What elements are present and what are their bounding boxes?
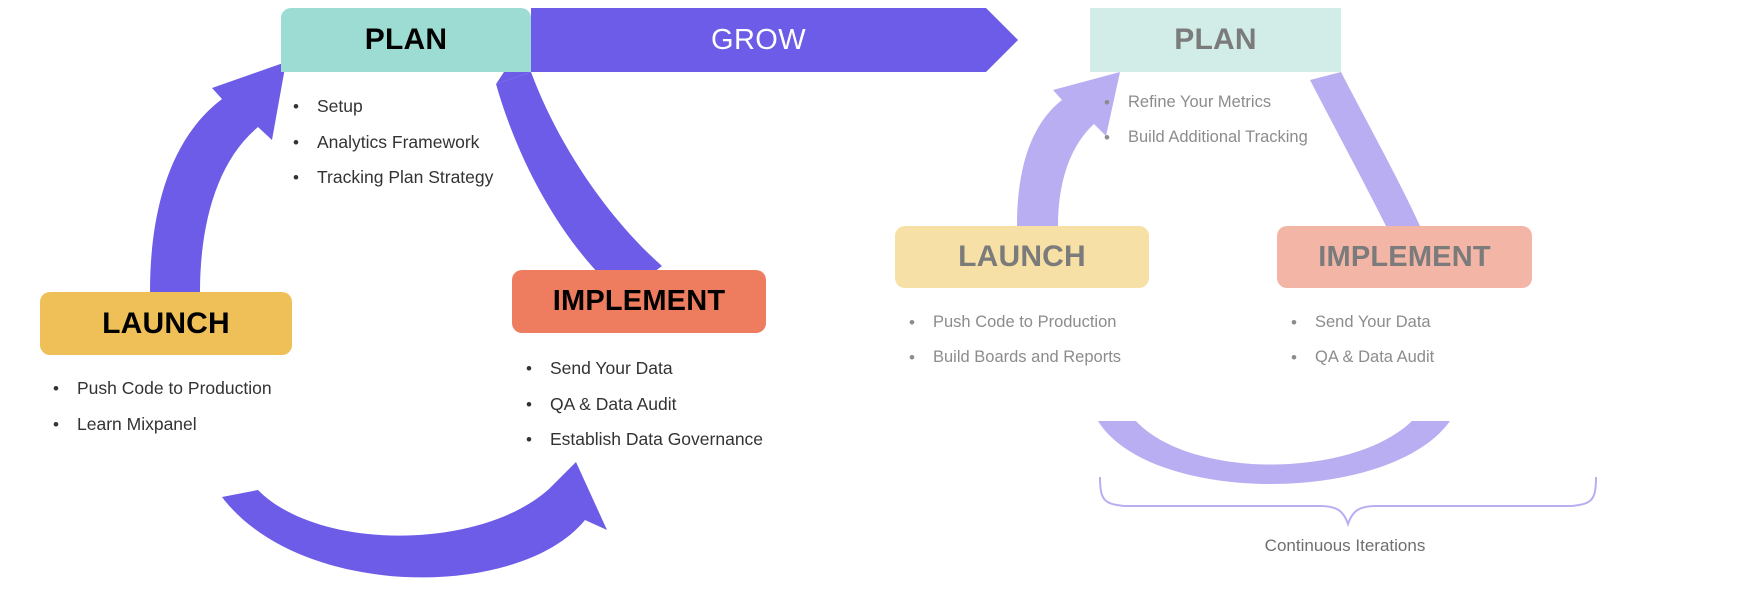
bullet-text: Build Additional Tracking <box>1128 129 1308 146</box>
list-item: • QA & Data Audit <box>526 396 766 414</box>
list-item: • Learn Mixpanel <box>53 416 292 434</box>
grow-banner: GROW <box>531 8 1018 72</box>
bullet-text: Setup <box>317 98 363 116</box>
bullet-dot-icon: • <box>1104 129 1128 146</box>
arrow-launch-to-plan-active <box>150 62 286 292</box>
node-plan-faded[interactable]: PLAN • Refine Your Metrics • Build Addit… <box>1090 8 1341 164</box>
list-item: • Build Boards and Reports <box>909 349 1149 366</box>
diagram-canvas: GROW PLAN • Setup • Analytics Framework … <box>0 0 1740 589</box>
node-launch-faded-bullets: • Push Code to Production • Build Boards… <box>895 314 1149 366</box>
bullet-dot-icon: • <box>293 169 317 186</box>
bullet-dot-icon: • <box>1104 94 1128 111</box>
list-item: • QA & Data Audit <box>1291 349 1532 366</box>
bullet-text: Send Your Data <box>1315 314 1431 331</box>
list-item: • Send Your Data <box>526 360 766 378</box>
bullet-text: QA & Data Audit <box>1315 349 1434 366</box>
grow-banner-label: GROW <box>531 8 986 72</box>
bullet-text: Establish Data Governance <box>550 431 763 449</box>
continuous-iterations-label: Continuous Iterations <box>1195 536 1495 556</box>
arrow-implement-to-launch-active <box>222 462 607 577</box>
node-implement-active[interactable]: IMPLEMENT • Send Your Data • QA & Data A… <box>512 270 766 467</box>
bullet-text: Push Code to Production <box>77 380 272 398</box>
bullet-dot-icon: • <box>909 314 933 331</box>
bullet-dot-icon: • <box>53 416 77 433</box>
bullet-dot-icon: • <box>909 349 933 366</box>
node-launch-active[interactable]: LAUNCH • Push Code to Production • Learn… <box>40 292 292 451</box>
bullet-text: Tracking Plan Strategy <box>317 169 493 187</box>
node-implement-active-bullets: • Send Your Data • QA & Data Audit • Est… <box>512 360 766 449</box>
bullet-text: Push Code to Production <box>933 314 1116 331</box>
bullet-dot-icon: • <box>293 98 317 115</box>
list-item: • Establish Data Governance <box>526 431 766 449</box>
node-plan-active[interactable]: PLAN • Setup • Analytics Framework • Tra… <box>281 8 531 205</box>
list-item: • Build Additional Tracking <box>1104 129 1341 146</box>
node-plan-faded-bullets: • Refine Your Metrics • Build Additional… <box>1090 94 1341 146</box>
node-plan-active-bullets: • Setup • Analytics Framework • Tracking… <box>281 98 531 187</box>
node-implement-faded-title: IMPLEMENT <box>1277 226 1532 288</box>
node-plan-faded-title: PLAN <box>1090 8 1341 72</box>
list-item: • Push Code to Production <box>53 380 292 398</box>
bullet-dot-icon: • <box>1291 314 1315 331</box>
list-item: • Refine Your Metrics <box>1104 94 1341 111</box>
bullet-text: QA & Data Audit <box>550 396 676 414</box>
list-item: • Tracking Plan Strategy <box>293 169 531 187</box>
bullet-text: Analytics Framework <box>317 134 479 152</box>
list-item: • Push Code to Production <box>909 314 1149 331</box>
list-item: • Setup <box>293 98 531 116</box>
node-implement-faded[interactable]: IMPLEMENT • Send Your Data • QA & Data A… <box>1277 226 1532 384</box>
bullet-text: Build Boards and Reports <box>933 349 1121 366</box>
node-launch-faded[interactable]: LAUNCH • Push Code to Production • Build… <box>895 226 1149 384</box>
list-item: • Analytics Framework <box>293 134 531 152</box>
bullet-dot-icon: • <box>293 134 317 151</box>
node-launch-active-bullets: • Push Code to Production • Learn Mixpan… <box>40 380 292 433</box>
bullet-dot-icon: • <box>53 380 77 397</box>
bullet-dot-icon: • <box>526 360 550 377</box>
node-launch-active-title: LAUNCH <box>40 292 292 355</box>
bullet-dot-icon: • <box>1291 349 1315 366</box>
node-launch-faded-title: LAUNCH <box>895 226 1149 288</box>
bullet-text: Refine Your Metrics <box>1128 94 1271 111</box>
bullet-dot-icon: • <box>526 396 550 413</box>
node-plan-active-title: PLAN <box>281 8 531 72</box>
continuous-iterations-brace <box>1100 477 1596 524</box>
bullet-dot-icon: • <box>526 431 550 448</box>
bullet-text: Learn Mixpanel <box>77 416 197 434</box>
node-implement-active-title: IMPLEMENT <box>512 270 766 333</box>
arrow-implement-to-launch-faded <box>1098 421 1450 484</box>
list-item: • Send Your Data <box>1291 314 1532 331</box>
bullet-text: Send Your Data <box>550 360 673 378</box>
node-implement-faded-bullets: • Send Your Data • QA & Data Audit <box>1277 314 1532 366</box>
